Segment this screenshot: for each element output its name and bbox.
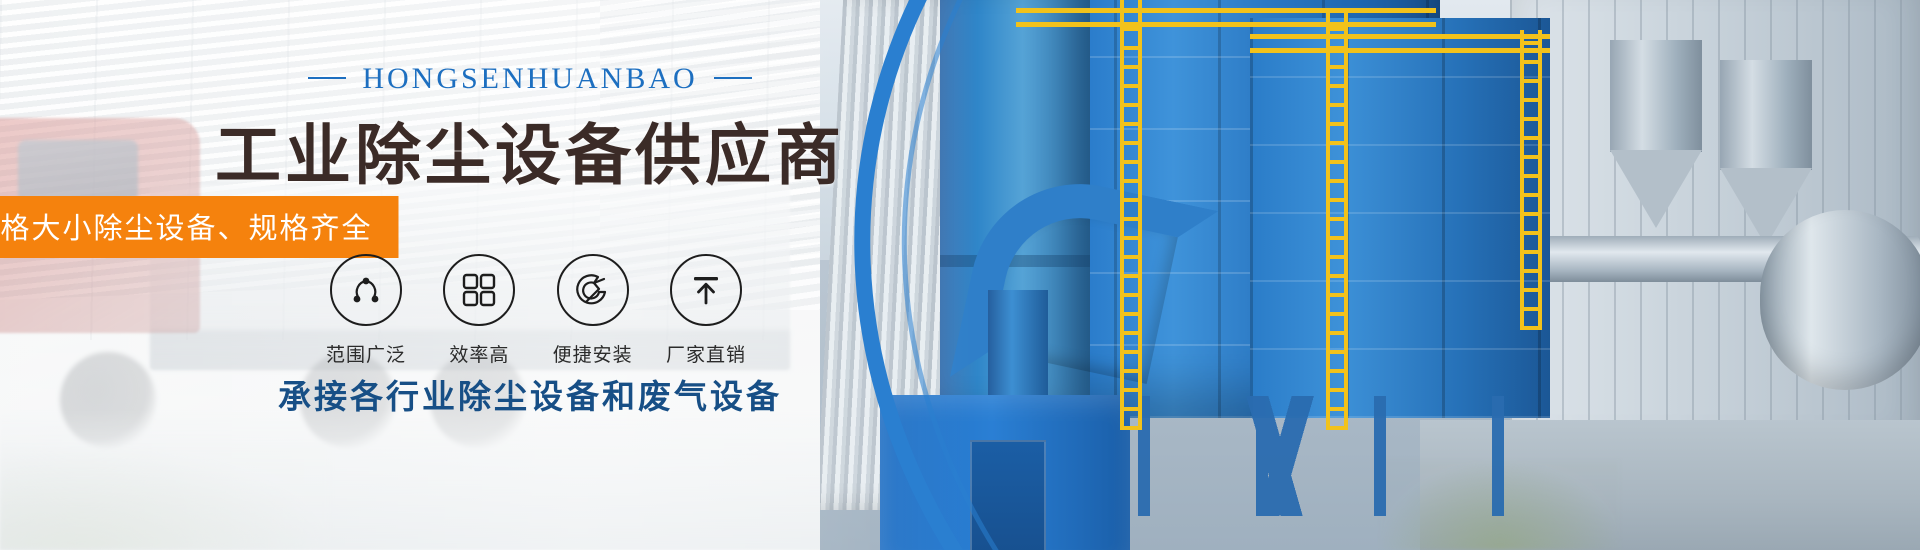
yellow-handrail (1250, 34, 1550, 39)
hero-banner: HONGSENHUANBAO 工业除尘设备供应商 各种规格大小除尘设备、规格齐全… (0, 0, 1920, 550)
storage-silo (1720, 60, 1812, 170)
yellow-ladder (1326, 10, 1348, 430)
cylindrical-tank (1760, 210, 1920, 390)
eyebrow-dash-right (714, 77, 752, 79)
eyebrow-dash-left (308, 77, 346, 79)
storage-silo (1610, 40, 1702, 152)
page-title: 工业除尘设备供应商 (0, 102, 1060, 198)
banner-content: HONGSENHUANBAO 工业除尘设备供应商 各种规格大小除尘设备、规格齐全… (0, 0, 1100, 550)
feature-label: 范围广泛 (318, 340, 414, 367)
yellow-ladder (1520, 30, 1542, 330)
feature-label: 厂家直销 (658, 340, 754, 367)
baghouse-module-array-2 (1250, 18, 1550, 418)
subtitle-orange-bar: 各种规格大小除尘设备、规格齐全 (0, 196, 399, 258)
silo-cone-hopper (1610, 150, 1702, 228)
feature-item-factory-direct[interactable]: 厂家直销 (658, 254, 754, 367)
feature-label: 效率高 (431, 340, 527, 367)
feature-list: 范围广泛 效率高 (318, 254, 754, 367)
feature-item-easy-install[interactable]: 便捷安装 (545, 254, 641, 367)
network-nodes-icon (330, 254, 402, 326)
yellow-ladder (1120, 0, 1142, 430)
feature-label: 便捷安装 (545, 340, 641, 367)
eyebrow-text: HONGSENHUANBAO (362, 62, 697, 95)
feature-item-high-efficiency[interactable]: 效率高 (431, 254, 527, 367)
brand-pinyin-eyebrow: HONGSENHUANBAO (0, 62, 1060, 96)
wrench-icon (557, 254, 629, 326)
feature-item-wide-range[interactable]: 范围广泛 (318, 254, 414, 367)
up-arrow-icon (670, 254, 742, 326)
grid-squares-icon (443, 254, 515, 326)
tagline: 承接各行业除尘设备和废气设备 (0, 370, 1060, 418)
